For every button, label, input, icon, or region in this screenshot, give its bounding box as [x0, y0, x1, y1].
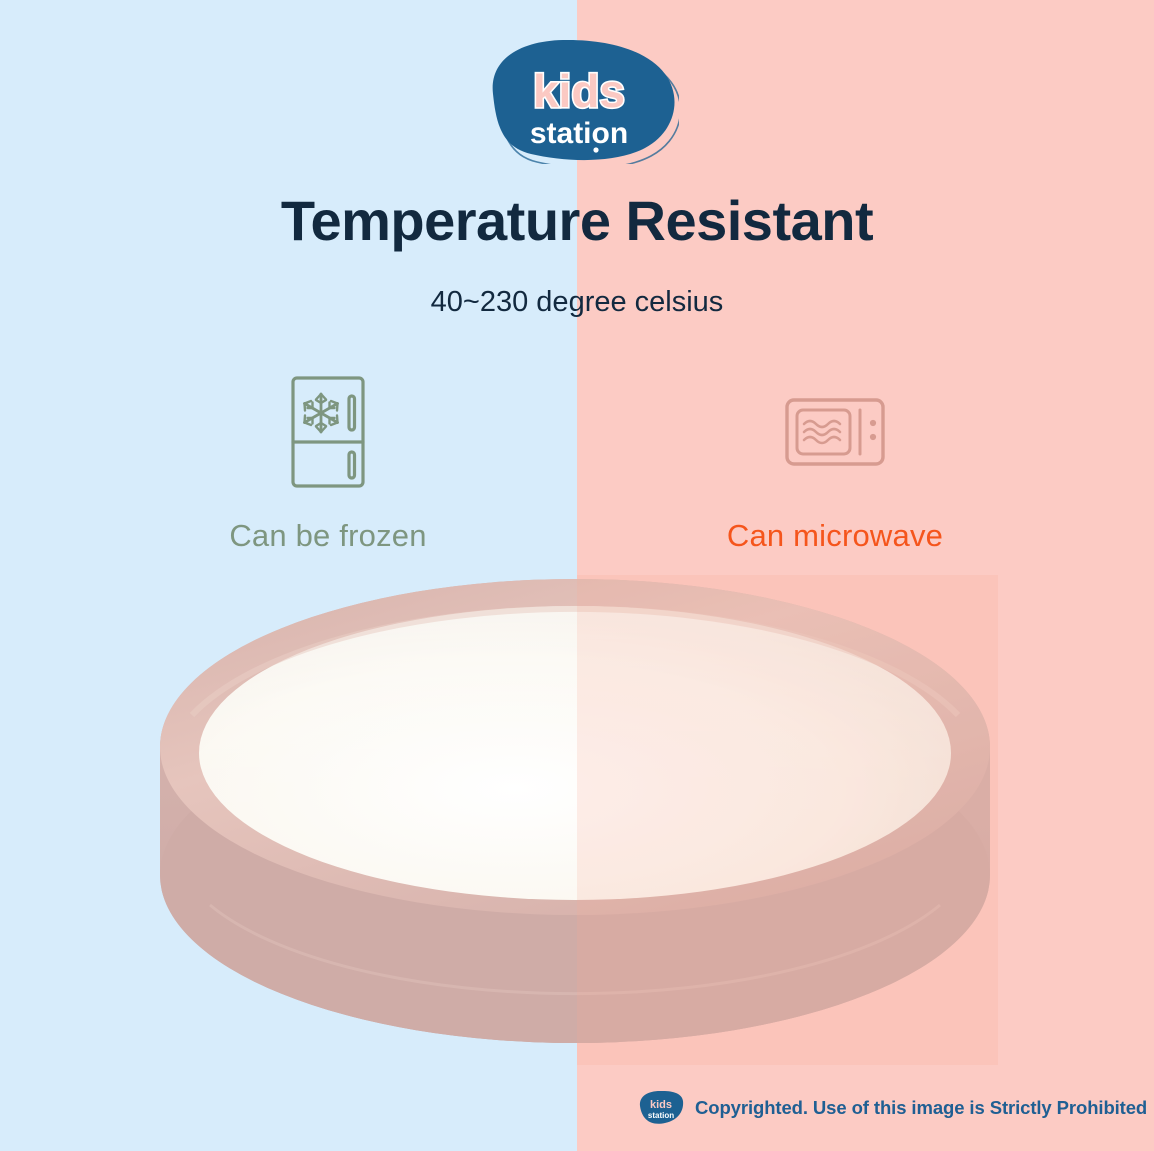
feature-can-be-frozen: Can be frozen — [148, 372, 508, 554]
copyright-text: Copyrighted. Use of this image is Strict… — [695, 1097, 1147, 1119]
fridge-freezer-snowflake-icon — [273, 372, 383, 492]
kids-station-logo: kids station — [479, 36, 679, 164]
page-title: Temperature Resistant — [0, 190, 1154, 253]
kids-station-badge-icon: kids station — [637, 1089, 685, 1127]
logo-accent-dot — [593, 147, 598, 152]
feature-label-frozen: Can be frozen — [148, 518, 508, 554]
product-warm-tint — [577, 575, 998, 1065]
logo-word-kids: kids — [533, 65, 625, 117]
feature-can-microwave: Can microwave — [655, 372, 1015, 554]
copyright-footer: kids station Copyrighted. Use of this im… — [637, 1089, 1147, 1127]
feature-label-microwave: Can microwave — [655, 518, 1015, 554]
badge-word-kids: kids — [650, 1099, 672, 1111]
logo-word-station: station — [530, 117, 628, 150]
page-subtitle: 40~230 degree celsius — [0, 286, 1154, 319]
promo-image-canvas: kids station Temperature Resistant 40~23… — [0, 0, 1154, 1151]
badge-word-station: station — [648, 1111, 674, 1120]
microwave-icon — [780, 372, 890, 492]
product-image-silicone-plate — [152, 575, 998, 1065]
